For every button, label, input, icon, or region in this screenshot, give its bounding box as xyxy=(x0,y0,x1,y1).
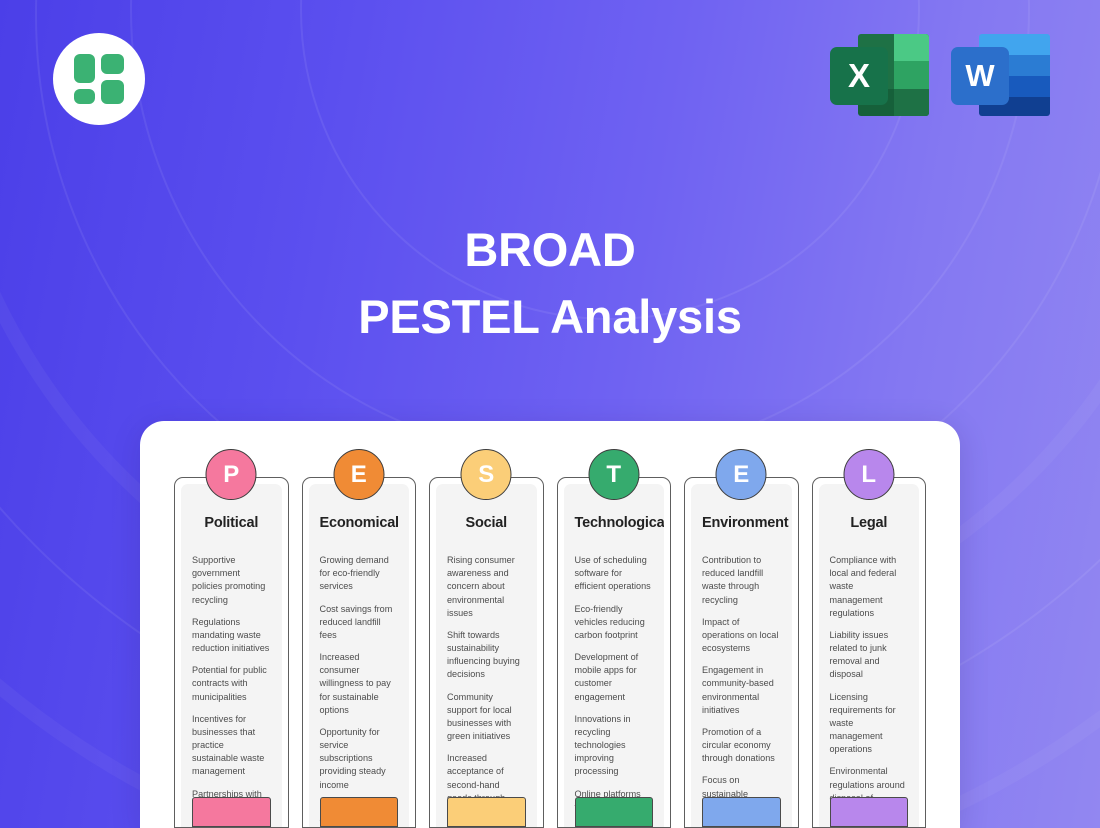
pestel-card: PoliticalSupportive government policies … xyxy=(140,421,960,828)
title-line-2: PESTEL Analysis xyxy=(0,289,1100,344)
list-item: Use of scheduling software for efficient… xyxy=(575,554,654,594)
column-color-bar xyxy=(320,797,399,827)
column-color-bar xyxy=(447,797,526,827)
office-icons-group: X W xyxy=(830,28,1050,122)
list-item: Liability issues related to junk removal… xyxy=(830,629,909,682)
column-letter-badge: S xyxy=(461,449,512,500)
column-color-bar xyxy=(575,797,654,827)
list-item: Promotion of a circular economy through … xyxy=(702,726,781,766)
list-item: Cost savings from reduced landfill fees xyxy=(320,603,399,643)
column-color-bar xyxy=(702,797,781,827)
column-item-list: Rising consumer awareness and concern ab… xyxy=(447,554,526,827)
list-item: Development of mobile apps for customer … xyxy=(575,651,654,704)
excel-icon[interactable]: X xyxy=(830,28,929,122)
list-item: Potential for public contracts with muni… xyxy=(192,664,271,704)
list-item: Incentives for businesses that practice … xyxy=(192,713,271,779)
pestel-columns: PoliticalSupportive government policies … xyxy=(174,477,926,828)
column-title: Legal xyxy=(830,515,909,531)
column-item-list: Growing demand for eco-friendly services… xyxy=(320,554,399,827)
column-item-list: Supportive government policies promoting… xyxy=(192,554,271,827)
list-item: Growing demand for eco-friendly services xyxy=(320,554,399,594)
column-panel: PoliticalSupportive government policies … xyxy=(181,484,282,827)
pestel-column-economical[interactable]: EconomicalGrowing demand for eco-friendl… xyxy=(302,477,417,828)
column-panel: EnvironmentContribution to reduced landf… xyxy=(691,484,792,827)
list-item: Engagement in community-based environmen… xyxy=(702,664,781,717)
list-item: Supportive government policies promoting… xyxy=(192,554,271,607)
column-title: Social xyxy=(447,515,526,531)
word-icon[interactable]: W xyxy=(951,28,1050,122)
column-item-list: Use of scheduling software for efficient… xyxy=(575,554,654,827)
pestel-column-legal[interactable]: LegalCompliance with local and federal w… xyxy=(812,477,927,828)
column-panel: TechnologicalUse of scheduling software … xyxy=(564,484,665,827)
column-title: Political xyxy=(192,515,271,531)
list-item: Compliance with local and federal waste … xyxy=(830,554,909,620)
column-panel: LegalCompliance with local and federal w… xyxy=(819,484,920,827)
brand-logo xyxy=(53,33,145,125)
pestel-column-technological[interactable]: TechnologicalUse of scheduling software … xyxy=(557,477,672,828)
column-color-bar xyxy=(192,797,271,827)
column-letter-badge: E xyxy=(333,449,384,500)
column-letter-badge: P xyxy=(206,449,257,500)
column-item-list: Compliance with local and federal waste … xyxy=(830,554,909,827)
list-item: Increased consumer willingness to pay fo… xyxy=(320,651,399,717)
word-icon-letter: W xyxy=(951,47,1009,105)
list-item: Licensing requirements for waste managem… xyxy=(830,691,909,757)
column-panel: SocialRising consumer awareness and conc… xyxy=(436,484,537,827)
column-panel: EconomicalGrowing demand for eco-friendl… xyxy=(309,484,410,827)
column-title: Economical xyxy=(320,515,399,531)
pestel-column-environment[interactable]: EnvironmentContribution to reduced landf… xyxy=(684,477,799,828)
list-item: Contribution to reduced landfill waste t… xyxy=(702,554,781,607)
column-letter-badge: E xyxy=(716,449,767,500)
list-item: Eco-friendly vehicles reducing carbon fo… xyxy=(575,603,654,643)
list-item: Opportunity for service subscriptions pr… xyxy=(320,726,399,792)
list-item: Impact of operations on local ecosystems xyxy=(702,616,781,656)
column-title: Technological xyxy=(575,515,654,531)
pestel-column-political[interactable]: PoliticalSupportive government policies … xyxy=(174,477,289,828)
column-letter-badge: T xyxy=(588,449,639,500)
column-title: Environment xyxy=(702,515,781,531)
list-item: Community support for local businesses w… xyxy=(447,691,526,744)
page-title: BROAD PESTEL Analysis xyxy=(0,222,1100,345)
list-item: Regulations mandating waste reduction in… xyxy=(192,616,271,656)
excel-icon-letter: X xyxy=(830,47,888,105)
pestel-column-social[interactable]: SocialRising consumer awareness and conc… xyxy=(429,477,544,828)
column-color-bar xyxy=(830,797,909,827)
column-letter-badge: L xyxy=(843,449,894,500)
list-item: Innovations in recycling technologies im… xyxy=(575,713,654,779)
column-item-list: Contribution to reduced landfill waste t… xyxy=(702,554,781,827)
title-line-1: BROAD xyxy=(0,222,1100,277)
list-item: Shift towards sustainability influencing… xyxy=(447,629,526,682)
grid-logo-icon xyxy=(74,54,124,104)
list-item: Rising consumer awareness and concern ab… xyxy=(447,554,526,620)
